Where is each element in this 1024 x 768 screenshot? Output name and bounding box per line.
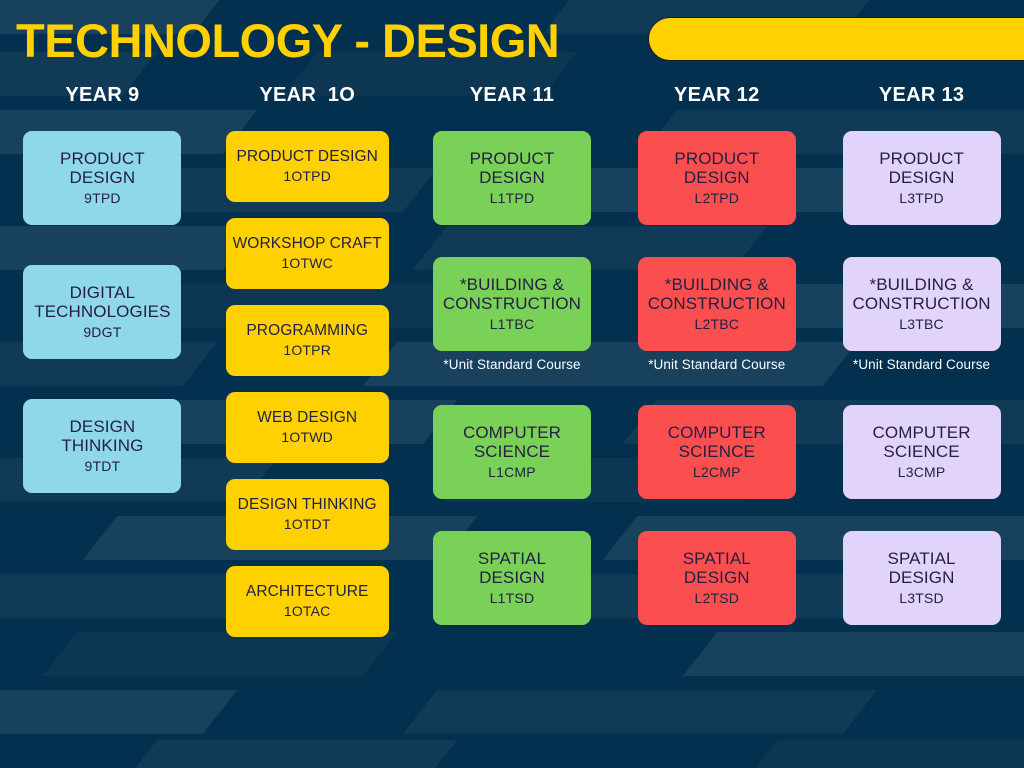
course-name: PRODUCTDESIGN [60, 149, 145, 187]
course-name: PRODUCTDESIGN [674, 149, 759, 187]
course-slot: PRODUCTDESIGN9TPD [23, 131, 181, 225]
course-code: L1TPD [490, 189, 535, 207]
course-name: COMPUTERSCIENCE [463, 423, 561, 461]
course-card[interactable]: PRODUCT DESIGN1OTPD [226, 131, 389, 202]
course-slot: COMPUTERSCIENCEL1CMP [433, 405, 591, 499]
course-card[interactable]: DESIGNTHINKING9TDT [23, 399, 181, 493]
course-card-list: PRODUCTDESIGNL3TPD*BUILDING &CONSTRUCTIO… [819, 131, 1024, 625]
course-slot: DESIGNTHINKING9TDT [23, 399, 181, 493]
column-heading-year-12: YEAR 12 [674, 84, 759, 107]
course-card[interactable]: DESIGN THINKING1OTDT [226, 479, 389, 550]
course-card[interactable]: ARCHITECTURE1OTAC [226, 566, 389, 637]
course-code: L2TPD [694, 189, 739, 207]
course-code: 1OTWC [281, 254, 333, 272]
course-card[interactable]: PRODUCTDESIGNL1TPD [433, 131, 591, 225]
header: TECHNOLOGY - DESIGN [0, 0, 1024, 80]
pathway-columns: YEAR 9PRODUCTDESIGN9TPDDIGITALTECHNOLOGI… [0, 84, 1024, 768]
course-card[interactable]: SPATIALDESIGNL2TSD [638, 531, 796, 625]
year-column-13: YEAR 13PRODUCTDESIGNL3TPD*BUILDING &CONS… [819, 84, 1024, 768]
course-name: WEB DESIGN [257, 409, 357, 426]
course-name: DESIGNTHINKING [61, 417, 143, 455]
course-slot: *BUILDING &CONSTRUCTIONL2TBC*Unit Standa… [638, 257, 796, 373]
course-name: COMPUTERSCIENCE [873, 423, 971, 461]
year-column-10: YEAR 1OPRODUCT DESIGN1OTPDWORKSHOP CRAFT… [205, 84, 410, 768]
course-card[interactable]: PRODUCTDESIGNL3TPD [843, 131, 1001, 225]
course-code: 1OTAC [284, 602, 331, 620]
course-slot: DIGITALTECHNOLOGIES9DGT [23, 265, 181, 359]
course-code: L2TSD [694, 589, 739, 607]
course-code: L2TBC [694, 315, 739, 333]
course-name: PRODUCTDESIGN [879, 149, 964, 187]
course-card[interactable]: *BUILDING &CONSTRUCTIONL2TBC [638, 257, 796, 351]
course-name: SPATIALDESIGN [888, 549, 956, 587]
course-slot: PRODUCTDESIGNL2TPD [638, 131, 796, 225]
unit-standard-footnote: *Unit Standard Course [443, 357, 580, 373]
course-code: L1TSD [490, 589, 535, 607]
course-name: PRODUCT DESIGN [236, 148, 378, 165]
course-card[interactable]: COMPUTERSCIENCEL3CMP [843, 405, 1001, 499]
column-heading-year-13: YEAR 13 [879, 84, 964, 107]
course-slot: SPATIALDESIGNL3TSD [843, 531, 1001, 625]
course-name: PRODUCTDESIGN [470, 149, 555, 187]
course-name: WORKSHOP CRAFT [233, 235, 382, 252]
course-name: COMPUTERSCIENCE [668, 423, 766, 461]
course-code: 9DGT [83, 323, 121, 341]
course-slot: COMPUTERSCIENCEL2CMP [638, 405, 796, 499]
course-code: L3TBC [899, 315, 944, 333]
course-card[interactable]: COMPUTERSCIENCEL1CMP [433, 405, 591, 499]
course-slot: COMPUTERSCIENCEL3CMP [843, 405, 1001, 499]
course-card[interactable]: *BUILDING &CONSTRUCTIONL1TBC [433, 257, 591, 351]
course-slot: PRODUCTDESIGNL3TPD [843, 131, 1001, 225]
course-code: 9TDT [84, 457, 120, 475]
course-name: *BUILDING &CONSTRUCTION [443, 275, 581, 313]
course-slot: WORKSHOP CRAFT1OTWC [226, 218, 389, 289]
course-card-list: PRODUCTDESIGNL2TPD*BUILDING &CONSTRUCTIO… [614, 131, 819, 625]
course-code: 1OTPR [283, 341, 331, 359]
course-card-list: PRODUCT DESIGN1OTPDWORKSHOP CRAFT1OTWCPR… [205, 131, 410, 637]
course-code: 9TPD [84, 189, 121, 207]
course-name: DIGITALTECHNOLOGIES [34, 283, 170, 321]
course-name: *BUILDING &CONSTRUCTION [648, 275, 786, 313]
course-code: L2CMP [693, 463, 741, 481]
course-code: 1OTDT [284, 515, 331, 533]
course-card[interactable]: PROGRAMMING1OTPR [226, 305, 389, 376]
course-card-list: PRODUCTDESIGNL1TPD*BUILDING &CONSTRUCTIO… [410, 131, 615, 625]
course-card[interactable]: SPATIALDESIGNL3TSD [843, 531, 1001, 625]
course-slot: ARCHITECTURE1OTAC [226, 566, 389, 637]
course-card[interactable]: WORKSHOP CRAFT1OTWC [226, 218, 389, 289]
course-code: L3TPD [899, 189, 944, 207]
year-column-9: YEAR 9PRODUCTDESIGN9TPDDIGITALTECHNOLOGI… [0, 84, 205, 768]
course-card[interactable]: PRODUCTDESIGNL2TPD [638, 131, 796, 225]
column-heading-year-9: YEAR 9 [65, 84, 139, 107]
year-column-12: YEAR 12PRODUCTDESIGNL2TPD*BUILDING &CONS… [614, 84, 819, 768]
unit-standard-footnote: *Unit Standard Course [648, 357, 785, 373]
course-name: SPATIALDESIGN [683, 549, 751, 587]
unit-standard-footnote: *Unit Standard Course [853, 357, 990, 373]
course-code: L1CMP [488, 463, 536, 481]
column-heading-year-11: YEAR 11 [470, 84, 554, 107]
course-code: 1OTPD [283, 167, 331, 185]
course-name: ARCHITECTURE [246, 583, 369, 600]
course-card-list: PRODUCTDESIGN9TPDDIGITALTECHNOLOGIES9DGT… [0, 131, 205, 493]
course-card[interactable]: WEB DESIGN1OTWD [226, 392, 389, 463]
course-slot: PRODUCTDESIGNL1TPD [433, 131, 591, 225]
course-card[interactable]: PRODUCTDESIGN9TPD [23, 131, 181, 225]
course-card[interactable]: COMPUTERSCIENCEL2CMP [638, 405, 796, 499]
course-card[interactable]: SPATIALDESIGNL1TSD [433, 531, 591, 625]
course-code: L1TBC [490, 315, 535, 333]
year-column-11: YEAR 11PRODUCTDESIGNL1TPD*BUILDING &CONS… [410, 84, 615, 768]
course-name: SPATIALDESIGN [478, 549, 546, 587]
column-heading-year-10: YEAR 1O [259, 84, 355, 107]
course-slot: WEB DESIGN1OTWD [226, 392, 389, 463]
course-slot: PROGRAMMING1OTPR [226, 305, 389, 376]
course-code: L3TSD [899, 589, 944, 607]
course-code: L3CMP [898, 463, 946, 481]
course-name: DESIGN THINKING [238, 496, 377, 513]
page-title: TECHNOLOGY - DESIGN [16, 17, 559, 64]
course-slot: *BUILDING &CONSTRUCTIONL1TBC*Unit Standa… [433, 257, 591, 373]
course-slot: SPATIALDESIGNL1TSD [433, 531, 591, 625]
course-name: PROGRAMMING [246, 322, 368, 339]
course-name: *BUILDING &CONSTRUCTION [853, 275, 991, 313]
course-slot: SPATIALDESIGNL2TSD [638, 531, 796, 625]
course-card[interactable]: DIGITALTECHNOLOGIES9DGT [23, 265, 181, 359]
course-slot: PRODUCT DESIGN1OTPD [226, 131, 389, 202]
course-slot: *BUILDING &CONSTRUCTIONL3TBC*Unit Standa… [843, 257, 1001, 373]
course-code: 1OTWD [281, 428, 333, 446]
course-slot: DESIGN THINKING1OTDT [226, 479, 389, 550]
course-card[interactable]: *BUILDING &CONSTRUCTIONL3TBC [843, 257, 1001, 351]
title-accent-pill [648, 17, 1024, 61]
